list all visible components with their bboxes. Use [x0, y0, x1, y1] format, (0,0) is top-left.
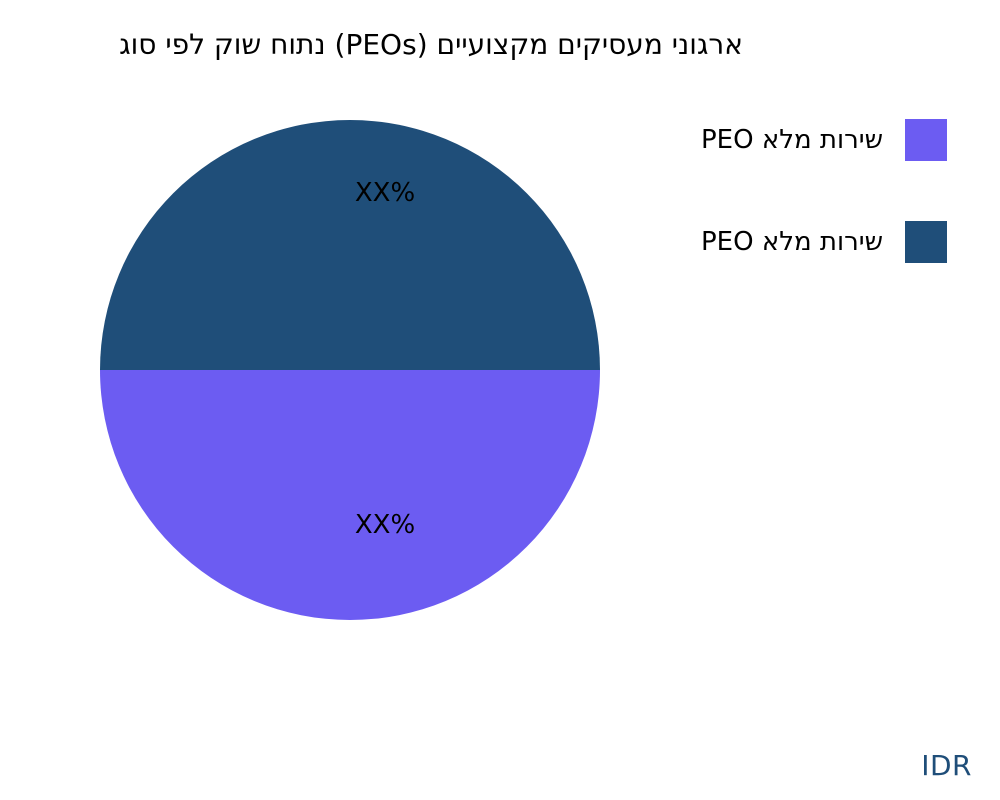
- legend-swatch-darkblue-icon: [905, 221, 947, 263]
- pie-chart-figure: ארגוני מעסיקים מקצועיים (PEOs) נתוח שוק …: [0, 0, 1000, 800]
- watermark-idr: IDR: [921, 750, 972, 782]
- legend-item-full-service-peo-2[interactable]: PEO שירות מלא: [617, 220, 947, 264]
- pie-slice-label-purple: XX%: [100, 510, 670, 540]
- chart-title: ארגוני מעסיקים מקצועיים (PEOs) נתוח שוק …: [0, 26, 862, 64]
- legend-label-2: PEO שירות מלא: [701, 227, 883, 257]
- chart-legend: PEO שירות מלא PEO שירות מלא: [617, 118, 947, 322]
- pie-chart-area: XX% XX%: [100, 120, 600, 620]
- pie-slice-purple[interactable]: [100, 370, 600, 620]
- legend-item-full-service-peo-1[interactable]: PEO שירות מלא: [617, 118, 947, 162]
- pie-slice-darkblue[interactable]: [100, 120, 600, 370]
- pie-slice-label-darkblue: XX%: [100, 178, 670, 208]
- legend-label-1: PEO שירות מלא: [701, 125, 883, 155]
- legend-swatch-purple-icon: [905, 119, 947, 161]
